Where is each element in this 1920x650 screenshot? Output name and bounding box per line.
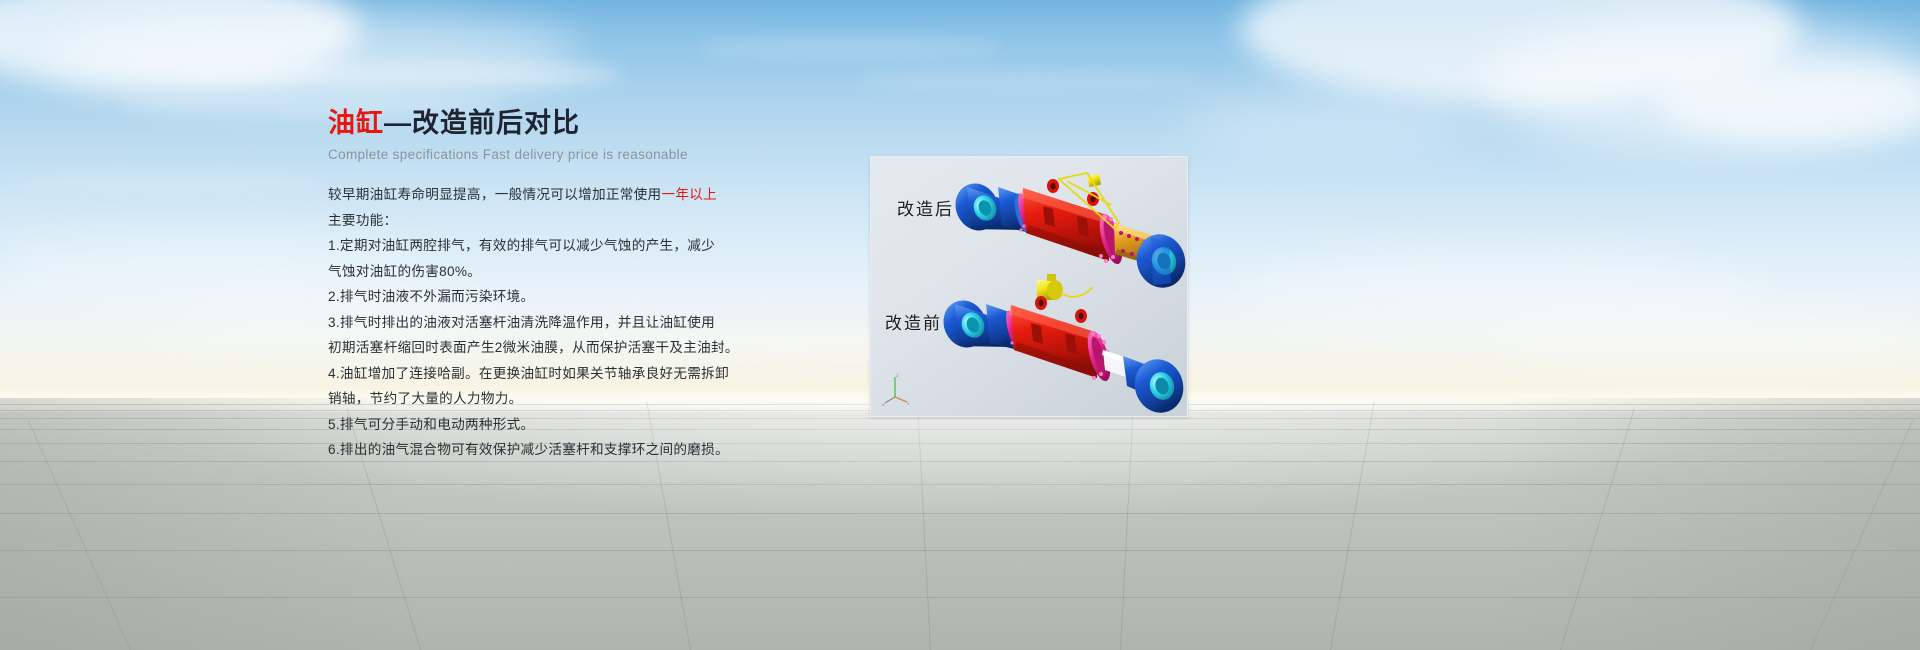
feature-line-highlight: 一年以上 <box>661 187 717 202</box>
svg-text:X: X <box>882 402 885 407</box>
title-highlight: 油缸 <box>328 108 384 138</box>
feature-line: 1.定期对油缸两腔排气，有效的排气可以减少气蚀的产生，减少 <box>328 233 848 259</box>
pavement-background <box>0 398 1920 650</box>
svg-text:Z: Z <box>896 373 899 378</box>
pavement-line <box>0 443 1920 444</box>
feature-line: 5.排气可分手动和电动两种形式。 <box>328 412 848 438</box>
cloud-shape <box>700 40 1000 56</box>
page-title: 油缸—改造前后对比 <box>328 106 848 140</box>
pavement-line <box>0 418 1920 419</box>
feature-line: 6.排出的油气混合物可有效保护减少活塞杆和支撑环之间的磨损。 <box>328 437 848 463</box>
pavement-line <box>0 484 1920 485</box>
feature-line: 2.排气时油液不外漏而污染环境。 <box>328 284 848 310</box>
feature-line: 销轴，节约了大量的人力物力。 <box>328 386 848 412</box>
svg-text:Y: Y <box>907 401 910 406</box>
feature-line: 气蚀对油缸的伤害80%。 <box>328 259 848 285</box>
feature-line: 4.油缸增加了连接哈副。在更换油缸时如果关节轴承良好无需拆卸 <box>328 361 848 387</box>
coordinate-axis-icon: Z X Y <box>882 373 910 407</box>
pavement-line <box>0 429 1920 430</box>
product-comparison-panel: Z X Y 改造后 改造前 <box>870 156 1188 417</box>
label-after: 改造后 <box>897 195 954 220</box>
pavement-line <box>0 513 1920 514</box>
page-subtitle: Complete specifications Fast delivery pr… <box>328 147 848 162</box>
cloud-shape <box>860 74 1200 88</box>
banner-text-block: 油缸—改造前后对比 Complete specifications Fast d… <box>328 106 848 463</box>
feature-line: 初期活塞杆缩回时表面产生2微米油膜，从而保护活塞干及主油封。 <box>328 335 848 361</box>
cylinder-before <box>936 294 1188 417</box>
cloud-shape <box>1180 96 1480 148</box>
cloud-shape <box>20 176 320 188</box>
label-before: 改造前 <box>885 309 942 334</box>
banner-stage: 油缸—改造前后对比 Complete specifications Fast d… <box>0 0 1920 650</box>
cloud-shape <box>180 62 620 88</box>
feature-line-text: 较早期油缸寿命明显提高，一般情况可以增加正常使用 <box>328 187 661 202</box>
pavement-line <box>0 461 1920 462</box>
feature-line: 较早期油缸寿命明显提高，一般情况可以增加正常使用一年以上 <box>328 182 848 208</box>
feature-line: 3.排气时排出的油液对活塞杆油清洗降温作用，并且让油缸使用 <box>328 310 848 336</box>
title-rest: —改造前后对比 <box>384 108 580 138</box>
feature-line: 主要功能： <box>328 208 848 234</box>
pavement-line <box>0 597 1920 598</box>
pavement-line <box>0 550 1920 551</box>
feature-list: 较早期油缸寿命明显提高，一般情况可以增加正常使用一年以上 主要功能： 1.定期对… <box>328 182 848 463</box>
cloud-shape <box>1500 310 1920 370</box>
cylinder-after <box>948 173 1188 300</box>
